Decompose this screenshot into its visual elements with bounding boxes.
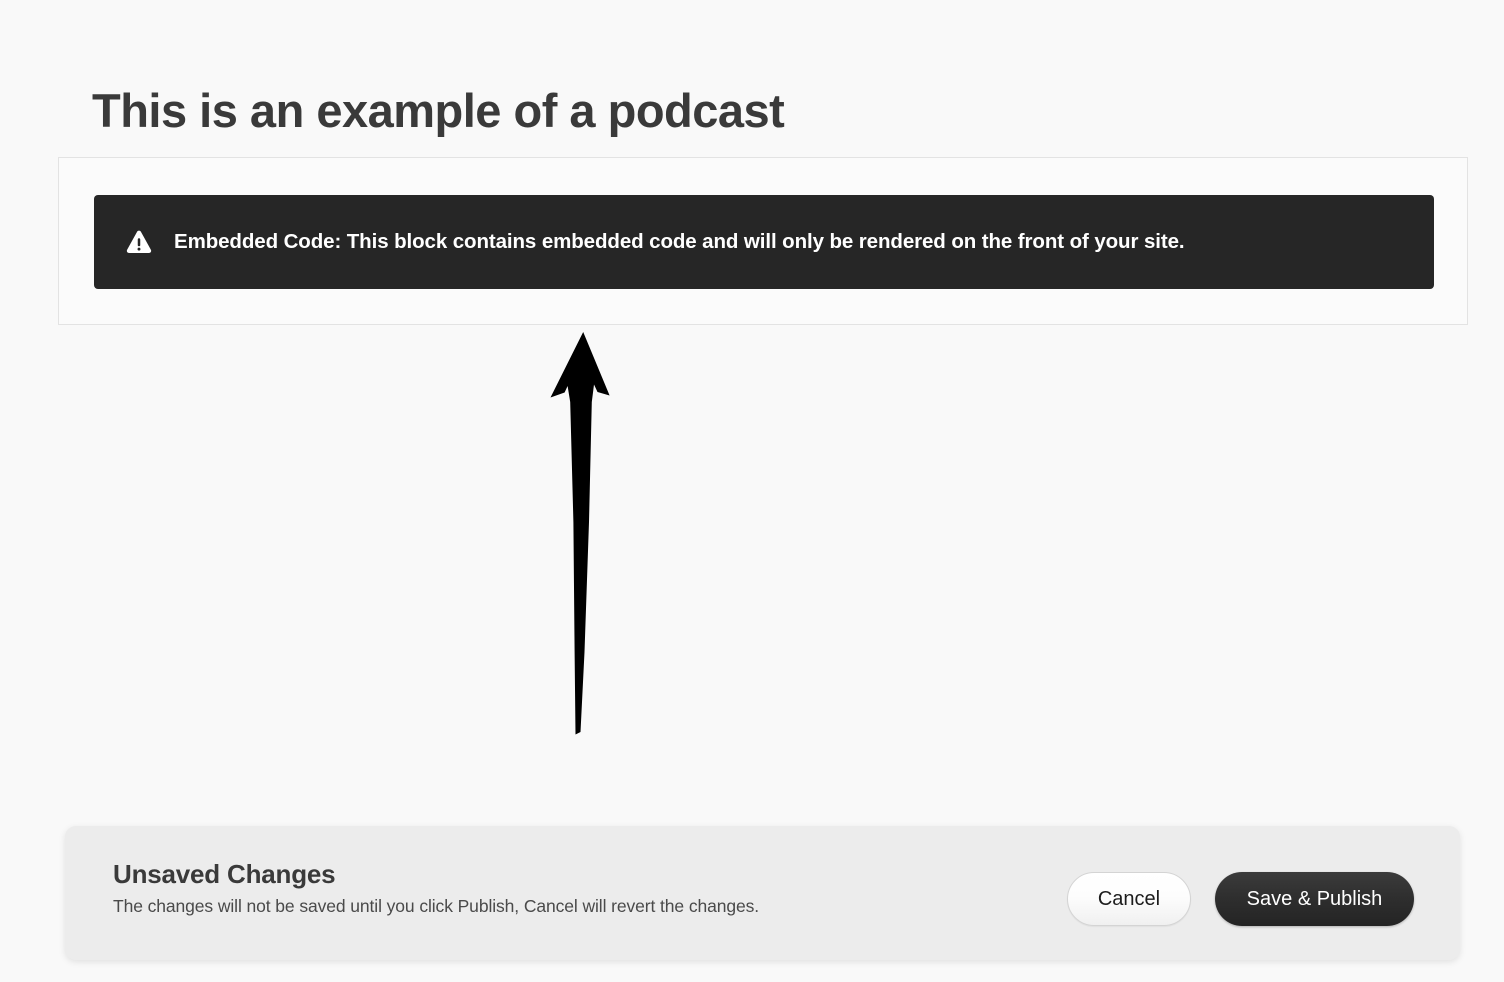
- unsaved-changes-text-group: Unsaved Changes The changes will not be …: [113, 858, 759, 917]
- embedded-code-banner-text: Embedded Code: This block contains embed…: [174, 230, 1184, 254]
- unsaved-changes-actions: Cancel Save & Publish: [1067, 872, 1414, 926]
- page-title: This is an example of a podcast: [92, 83, 784, 139]
- embedded-code-block[interactable]: Embedded Code: This block contains embed…: [58, 157, 1468, 325]
- warning-triangle-icon: [126, 229, 152, 255]
- unsaved-changes-bar: Unsaved Changes The changes will not be …: [65, 826, 1460, 960]
- unsaved-changes-description: The changes will not be saved until you …: [113, 895, 759, 918]
- cancel-button[interactable]: Cancel: [1067, 872, 1191, 926]
- save-and-publish-button[interactable]: Save & Publish: [1215, 872, 1414, 926]
- unsaved-changes-title: Unsaved Changes: [113, 858, 759, 891]
- embedded-code-banner: Embedded Code: This block contains embed…: [94, 195, 1434, 289]
- arrow-up-icon: [536, 322, 626, 747]
